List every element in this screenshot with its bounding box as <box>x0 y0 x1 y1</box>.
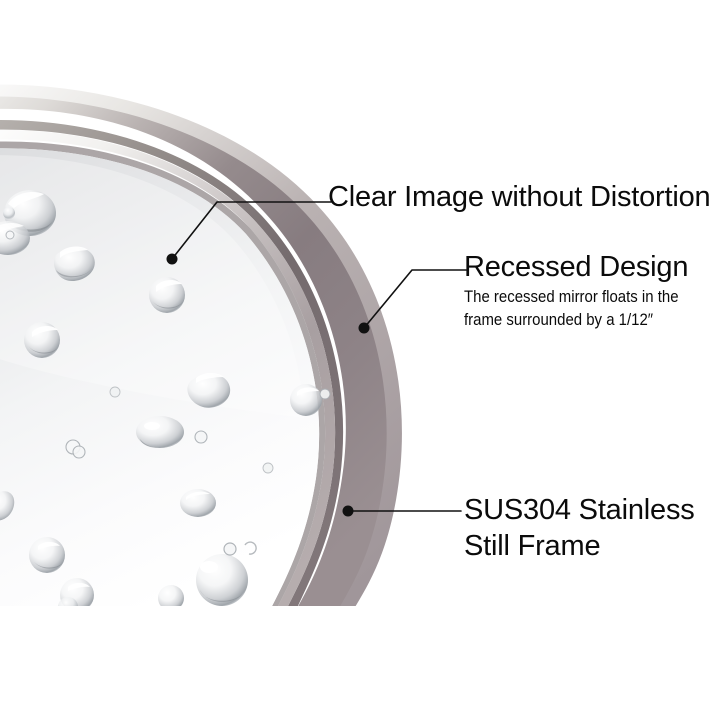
water-droplet <box>196 554 248 606</box>
mirror-product-photo <box>0 0 720 720</box>
water-droplet <box>263 463 273 473</box>
callout-recessed-design-title: Recessed Design <box>464 250 708 284</box>
callout-recessed-design-subtitle-line2: frame surrounded by a 1/12″ <box>464 309 679 330</box>
water-droplet <box>29 537 65 573</box>
water-droplet <box>6 231 14 239</box>
callout-stainless-frame-title-line1: SUS304 Stainless <box>464 492 695 528</box>
water-droplet <box>290 384 322 416</box>
callout-clear-image: Clear Image without Distortion <box>328 180 710 214</box>
water-droplet <box>180 489 216 517</box>
product-feature-image: Clear Image without Distortion Recessed … <box>0 0 720 720</box>
water-droplet <box>158 585 184 611</box>
water-droplet <box>195 431 207 443</box>
water-droplet <box>224 543 236 555</box>
water-droplet <box>136 416 184 448</box>
water-droplet <box>58 597 78 617</box>
water-droplet <box>149 277 185 313</box>
callout-stainless-frame: SUS304 Stainless Still Frame <box>464 492 695 564</box>
callout-recessed-design-subtitle-line1: The recessed mirror floats in the <box>464 286 679 307</box>
water-droplet <box>73 446 85 458</box>
callout-stainless-frame-title-line2: Still Frame <box>464 528 695 564</box>
callout-clear-image-title: Clear Image without Distortion <box>328 180 710 214</box>
water-droplet <box>60 578 94 612</box>
callout-recessed-design: Recessed Design The recessed mirror floa… <box>464 250 708 330</box>
water-droplet <box>110 387 120 397</box>
water-droplet <box>320 389 330 399</box>
water-droplet <box>3 207 15 219</box>
water-droplet <box>24 322 60 358</box>
